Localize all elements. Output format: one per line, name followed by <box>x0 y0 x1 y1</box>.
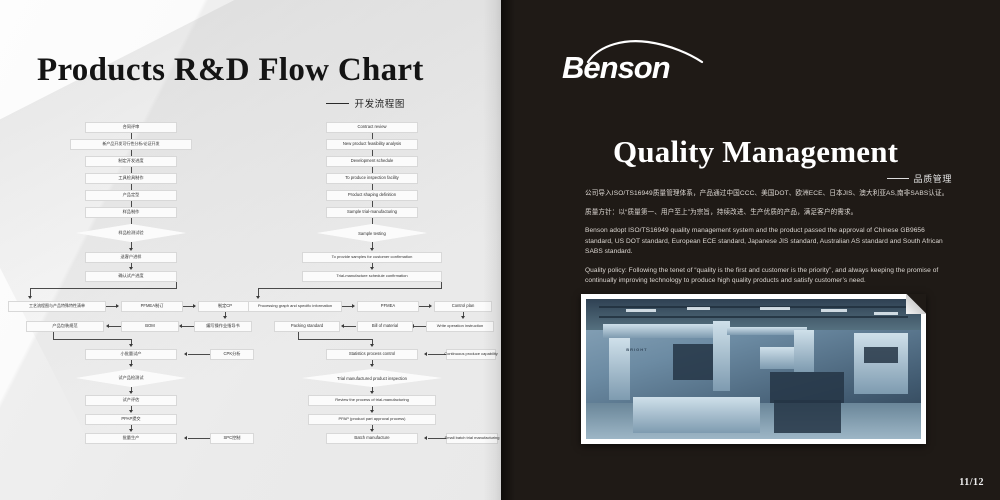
connector <box>188 438 210 439</box>
flow-node: Continuous produce capability <box>446 349 496 360</box>
flow-node: PPAP (product part approval process) <box>308 414 436 425</box>
arrow-down-icon <box>129 410 133 413</box>
arrow-down-icon <box>129 267 133 270</box>
flow-node: 工艺流程图与产品特殊特性清单 <box>8 301 106 312</box>
photo-light <box>874 312 897 315</box>
factory-photo: BRIGHT <box>586 299 921 439</box>
flow-decision: Sample testing <box>317 224 427 242</box>
photo-fold-corner-icon <box>906 294 926 314</box>
page-subtitle-row: 开发流程图 <box>37 96 457 110</box>
flow-node: BOM <box>121 321 179 332</box>
connector <box>131 218 132 224</box>
photo-beam <box>599 306 907 308</box>
flow-node: Sample trial-manufacturing <box>326 207 418 218</box>
photo-beam <box>599 316 907 318</box>
arrow-down-icon <box>129 391 133 394</box>
connector <box>30 288 177 289</box>
flow-node: Bill of material <box>357 321 413 332</box>
right-page: Benson Quality Management 品质管理 公司导入ISO/T… <box>501 0 1000 500</box>
arrow-down-icon <box>370 248 374 251</box>
arrow-down-icon <box>370 364 374 367</box>
photo-screen <box>864 347 898 364</box>
paragraph-cn-1: 公司导入ISO/TS16949质量管理体系，产品通过中国CCC、美国DOT、欧洲… <box>585 188 951 200</box>
arrow-down-icon <box>370 267 374 270</box>
connector <box>298 332 299 339</box>
arrow-down-icon <box>370 429 374 432</box>
arrow-down-icon <box>129 364 133 367</box>
flow-node: 新产品开发可行性分析/论证开发 <box>70 139 192 150</box>
flow-decision: Trial manufactured product inspection <box>302 369 442 387</box>
arrow-right-icon <box>429 304 432 308</box>
flow-node: Processing graph and specific informatio… <box>248 301 342 312</box>
flow-node: 制定CP <box>198 301 252 312</box>
section-subtitle-row: 品质管理 <box>613 172 952 185</box>
photo-light <box>687 307 710 310</box>
arrow-down-icon <box>129 248 133 251</box>
arrow-down-icon <box>28 296 32 299</box>
flow-node: 样品制作 <box>85 207 177 218</box>
section-subtitle: 品质管理 <box>914 172 952 185</box>
photo-shadow <box>770 372 844 403</box>
flow-node: 批量生产 <box>85 433 177 444</box>
arrow-left-icon <box>184 352 187 356</box>
arrow-down-icon <box>370 410 374 413</box>
brand-logo-text: Benson <box>562 52 670 83</box>
flow-decision: 试产品检测试 <box>76 369 186 387</box>
subtitle-dash-icon <box>887 178 909 179</box>
flow-decision: 样品检测试验 <box>76 224 186 242</box>
arrow-down-icon <box>223 316 227 319</box>
flow-node: Write operation instruction <box>426 321 494 332</box>
flow-node: Control plan <box>434 301 492 312</box>
photo-light <box>821 309 848 312</box>
left-page: Products R&D Flow Chart 开发流程图 合同评审 新产品开发… <box>0 0 501 500</box>
photo-light <box>626 309 656 312</box>
connector <box>372 218 373 224</box>
photo-shadow <box>673 344 713 380</box>
arrow-left-icon <box>106 324 109 328</box>
factory-photo-frame: BRIGHT <box>581 294 926 444</box>
flow-node: 合同评审 <box>85 122 177 133</box>
brand-logo: Benson <box>562 40 762 86</box>
flow-node: Small batch trial manufacturing <box>446 433 498 444</box>
flow-node: To produce inspection facility <box>326 173 418 184</box>
connector <box>182 326 194 327</box>
paragraph-cn-2: 质量方针：以“质量第一、用户至上”为宗旨，持续改进、生产优质的产品，满足客户的需… <box>585 207 951 219</box>
flow-node: CPK分析 <box>210 349 254 360</box>
arrow-down-icon <box>256 296 260 299</box>
arrow-down-icon <box>461 316 465 319</box>
flow-node: Trial-manufacture schedule confirmation <box>302 271 442 282</box>
flow-node: 确认试产进度 <box>85 271 177 282</box>
arrow-down-icon <box>129 429 133 432</box>
arrow-left-icon <box>341 324 344 328</box>
photo-crate <box>633 397 760 433</box>
page-subtitle: 开发流程图 <box>354 96 405 110</box>
connector <box>414 326 426 327</box>
photo-machine <box>854 333 908 395</box>
flow-node: 送客户进样 <box>85 252 177 263</box>
left-title-block: Products R&D Flow Chart 开发流程图 <box>37 52 457 110</box>
flow-node: Contract review <box>326 122 418 133</box>
flow-node: 产品包装规范 <box>26 321 104 332</box>
photo-light <box>760 307 790 310</box>
connector <box>109 326 121 327</box>
photo-crate-dark <box>774 400 841 434</box>
flow-node: 编写操作业指导书 <box>194 321 252 332</box>
arrow-left-icon <box>424 352 427 356</box>
section-title: Quality Management <box>613 134 953 170</box>
arrow-right-icon <box>352 304 355 308</box>
flow-node: New product feasibility analysis <box>326 139 418 150</box>
connector <box>428 438 446 439</box>
connector <box>53 339 131 340</box>
flow-node: 制定开发进度 <box>85 156 177 167</box>
arrow-right-icon <box>116 304 119 308</box>
page-title: Products R&D Flow Chart <box>37 52 457 89</box>
flow-node: Statistics process control <box>326 349 418 360</box>
arrow-down-icon <box>129 344 133 347</box>
flow-node: Packing standard <box>274 321 340 332</box>
flow-node: PPAP提交 <box>85 414 177 425</box>
connector <box>298 339 372 340</box>
brochure-spread: Products R&D Flow Chart 开发流程图 合同评审 新产品开发… <box>0 0 1000 500</box>
flow-node: 工具检具制作 <box>85 173 177 184</box>
arrow-right-icon <box>193 304 196 308</box>
photo-machine <box>603 324 714 338</box>
connector <box>258 288 442 289</box>
flow-node: To provide samples for customer confirma… <box>302 252 442 263</box>
arrow-left-icon <box>179 324 182 328</box>
arrow-left-icon <box>424 436 427 440</box>
flow-node: SPC控制 <box>210 433 254 444</box>
paragraph-en-1: Benson adopt ISO/TS16949 quality managem… <box>585 226 951 257</box>
arrow-left-icon <box>184 436 187 440</box>
connector <box>188 354 210 355</box>
paragraph-en-2: Quality policy: Following the tenet of “… <box>585 266 951 286</box>
photo-machine <box>794 330 814 372</box>
flow-node: 小批量试产 <box>85 349 177 360</box>
flow-node: Product shaping definition <box>326 190 418 201</box>
arrow-down-icon <box>370 391 374 394</box>
flow-node: Review the process of trial-manufacturin… <box>308 395 436 406</box>
subtitle-dash-icon <box>326 103 349 104</box>
flow-node: PFMEA <box>357 301 419 312</box>
flow-node: Batch manufacture <box>326 433 418 444</box>
flow-node: PFMEA制订 <box>121 301 183 312</box>
connector <box>53 332 54 339</box>
connector <box>344 326 356 327</box>
flow-node: Development schedule <box>326 156 418 167</box>
page-number: 11/12 <box>959 477 984 488</box>
flow-node: 产品定型 <box>85 190 177 201</box>
body-copy: 公司导入ISO/TS16949质量管理体系，产品通过中国CCC、美国DOT、欧洲… <box>585 188 951 295</box>
machine-brand-label: BRIGHT <box>626 347 647 352</box>
flow-node: 试产评估 <box>85 395 177 406</box>
arrow-down-icon <box>370 344 374 347</box>
